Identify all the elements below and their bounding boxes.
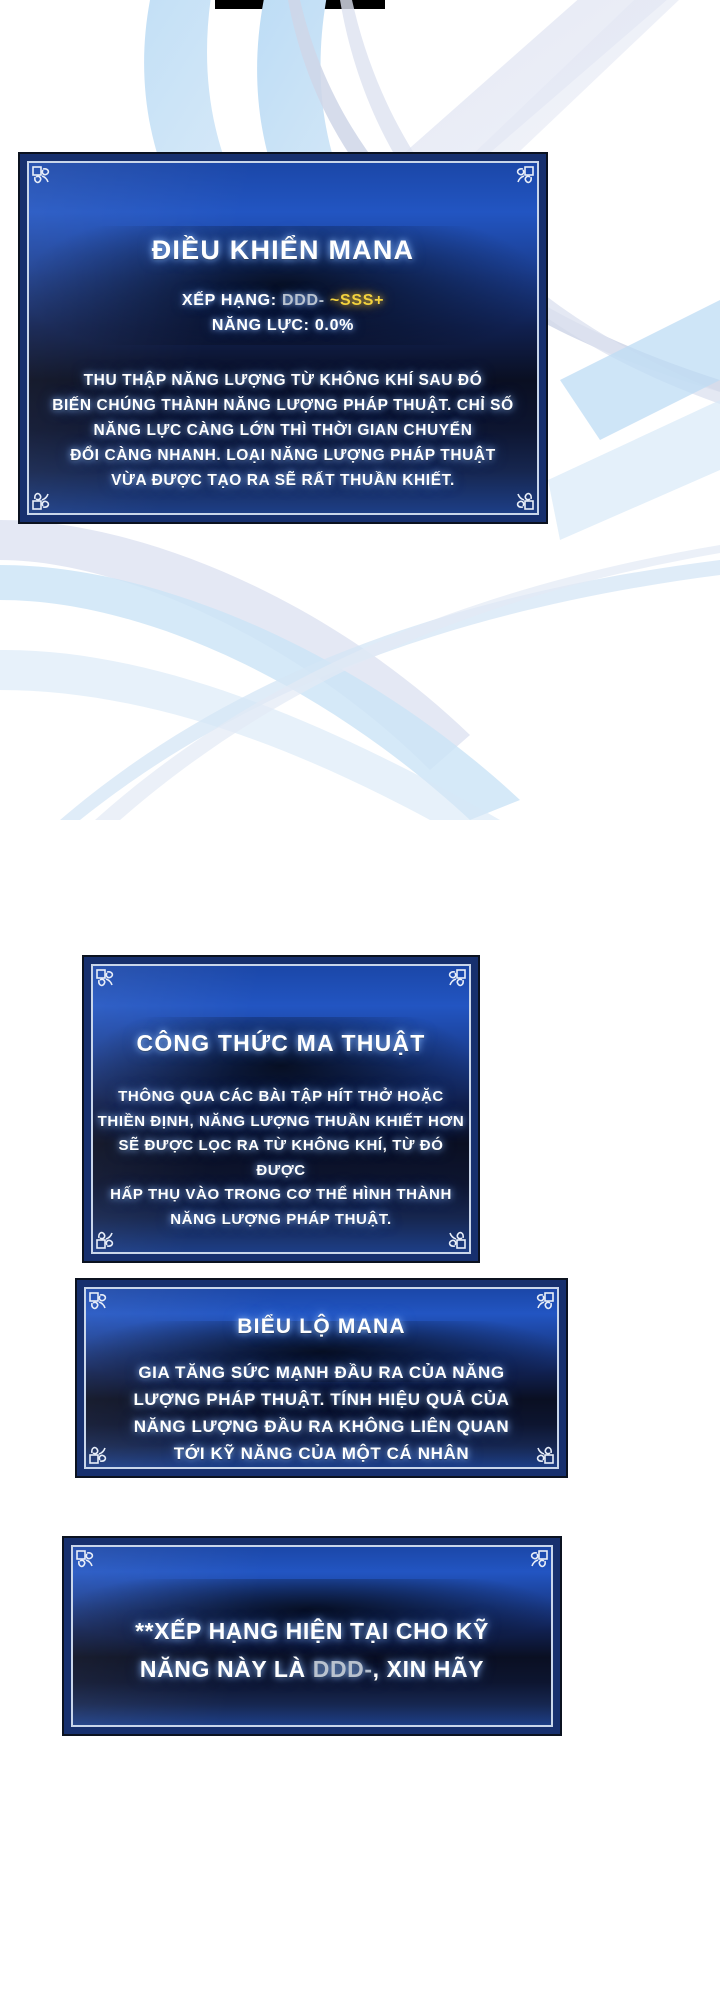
note-line-2-pre: NĂNG NÀY LÀ <box>140 1656 313 1682</box>
skill-panel-magic-formula: CÔNG THỨC MA THUẬT THÔNG QUA CÁC BÀI TẬP… <box>82 955 480 1263</box>
skill-panel-rank-note: **XẾP HẠNG HIỆN TẠI CHO KỸ NĂNG NÀY LÀ D… <box>62 1536 562 1736</box>
body-line: ĐỔI CÀNG NHANH. LOẠI NĂNG LƯỢNG PHÁP THU… <box>52 443 514 468</box>
note-line-1: **XẾP HẠNG HIỆN TẠI CHO KỸ <box>135 1618 489 1644</box>
power-row: NĂNG LỰC: 0.0% <box>182 313 384 338</box>
power-value: 0.0% <box>315 317 354 334</box>
ornament-corner-icon <box>94 967 124 997</box>
ornament-corner-icon <box>520 1548 550 1578</box>
comic-page: ĐIỀU KHIỂN MANA XẾP HẠNG: DDD- ~SSS+ NĂN… <box>0 0 720 2000</box>
body-line: NĂNG LƯỢNG PHÁP THUẬT. <box>93 1208 469 1233</box>
ornament-corner-icon <box>506 164 536 194</box>
ornament-corner-icon <box>526 1290 556 1320</box>
note-line: **XẾP HẠNG HIỆN TẠI CHO KỸ <box>135 1612 489 1650</box>
body-line: THIỀN ĐỊNH, NĂNG LƯỢNG THUẦN KHIẾT HƠN <box>93 1110 469 1135</box>
rank-value-high: ~SSS+ <box>330 292 384 309</box>
ornament-corner-icon <box>438 967 468 997</box>
panel-title: CÔNG THỨC MA THUẬT <box>137 1030 426 1057</box>
ornament-corner-icon <box>87 1290 117 1320</box>
panel-inner: CÔNG THỨC MA THUẬT THÔNG QUA CÁC BÀI TẬP… <box>91 964 471 1254</box>
rank-row: XẾP HẠNG: DDD- ~SSS+ <box>182 288 384 313</box>
body-line: NĂNG LỰC CÀNG LỚN THÌ THỜI GIAN CHUYỂN <box>52 418 514 443</box>
ornament-corner-icon <box>526 1436 556 1466</box>
note-line: NĂNG NÀY LÀ DDD-, XIN HÃY <box>135 1650 489 1688</box>
panel-inner: BIỂU LỘ MANA GIA TĂNG SỨC MẠNH ĐẦU RA CỦ… <box>84 1287 559 1469</box>
panel-inner: ĐIỀU KHIỂN MANA XẾP HẠNG: DDD- ~SSS+ NĂN… <box>27 161 539 515</box>
body-line: LƯỢNG PHÁP THUẬT. TÍNH HIỆU QUẢ CỦA <box>133 1386 509 1413</box>
body-line: VỪA ĐƯỢC TẠO RA SẼ RẤT THUẦN KHIẾT. <box>52 468 514 493</box>
rank-label: XẾP HẠNG: <box>182 292 277 309</box>
power-label: NĂNG LỰC: <box>212 317 310 334</box>
body-line: NĂNG LƯỢNG ĐẦU RA KHÔNG LIÊN QUAN <box>133 1413 509 1440</box>
body-line: THU THẬP NĂNG LƯỢNG TỪ KHÔNG KHÍ SAU ĐÓ <box>52 368 514 393</box>
body-line: BIẾN CHÚNG THÀNH NĂNG LƯỢNG PHÁP THUẬT. … <box>52 393 514 418</box>
panel-body: THU THẬP NĂNG LƯỢNG TỪ KHÔNG KHÍ SAU ĐÓ … <box>52 368 514 493</box>
body-line: HẤP THỤ VÀO TRONG CƠ THỂ HÌNH THÀNH <box>93 1183 469 1208</box>
panel-body: **XẾP HẠNG HIỆN TẠI CHO KỸ NĂNG NÀY LÀ D… <box>135 1612 489 1688</box>
ornament-corner-icon <box>30 164 60 194</box>
panel-title: BIỂU LỘ MANA <box>237 1315 405 1339</box>
panel-title: ĐIỀU KHIỂN MANA <box>152 235 415 266</box>
panel-body: THÔNG QUA CÁC BÀI TẬP HÍT THỞ HOẶC THIỀN… <box>93 1085 469 1232</box>
note-line-2-post: , XIN HÃY <box>373 1656 484 1682</box>
ornament-corner-icon <box>87 1436 117 1466</box>
panel-stats: XẾP HẠNG: DDD- ~SSS+ NĂNG LỰC: 0.0% <box>182 288 384 338</box>
skill-panel-mana-manifest: BIỂU LỘ MANA GIA TĂNG SỨC MẠNH ĐẦU RA CỦ… <box>75 1278 568 1478</box>
panel-body: GIA TĂNG SỨC MẠNH ĐẦU RA CỦA NĂNG LƯỢNG … <box>133 1359 509 1467</box>
body-line: GIA TĂNG SỨC MẠNH ĐẦU RA CỦA NĂNG <box>133 1359 509 1386</box>
top-black-bar <box>215 0 385 9</box>
body-line: SẼ ĐƯỢC LỌC RA TỪ KHÔNG KHÍ, TỪ ĐÓ ĐƯỢC <box>93 1134 469 1183</box>
ornament-corner-icon <box>74 1548 104 1578</box>
panel-inner: **XẾP HẠNG HIỆN TẠI CHO KỸ NĂNG NÀY LÀ D… <box>71 1545 553 1727</box>
rank-value-low: DDD- <box>282 292 325 309</box>
body-line: TỚI KỸ NĂNG CỦA MỘT CÁ NHÂN <box>133 1440 509 1467</box>
note-rank-value: DDD- <box>313 1656 373 1682</box>
body-line: THÔNG QUA CÁC BÀI TẬP HÍT THỞ HOẶC <box>93 1085 469 1110</box>
skill-panel-mana-control: ĐIỀU KHIỂN MANA XẾP HẠNG: DDD- ~SSS+ NĂN… <box>18 152 548 524</box>
